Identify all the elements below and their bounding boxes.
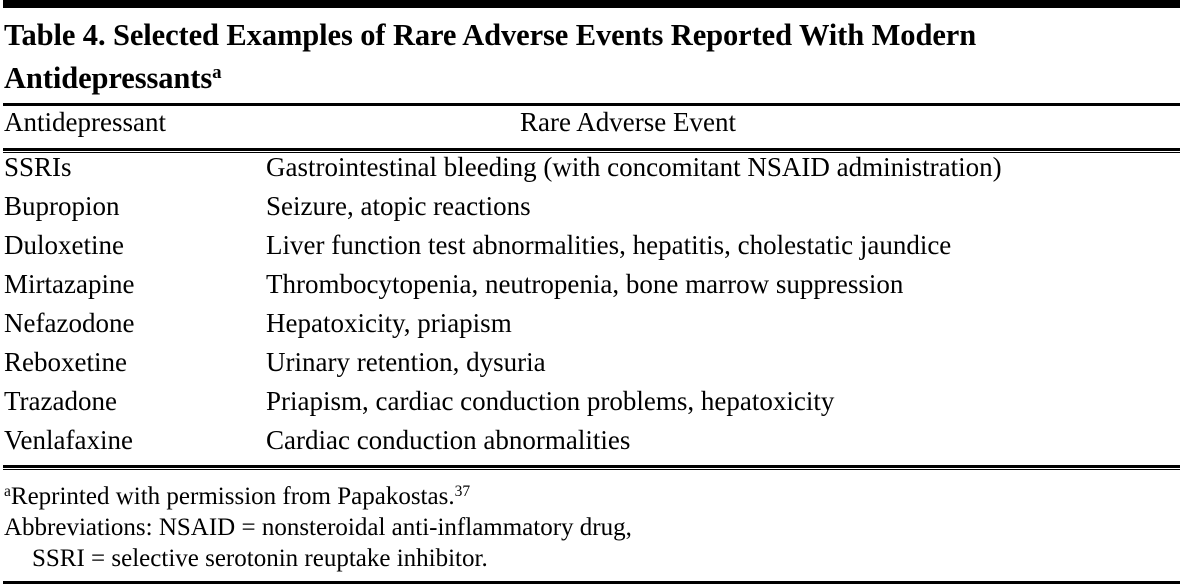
table-header: Antidepressant Rare Adverse Event bbox=[3, 106, 1180, 148]
adverse-events-table-body: SSRIs Gastrointestinal bleeding (with co… bbox=[3, 153, 1180, 465]
cell-rare-adverse-event: Gastrointestinal bleeding (with concomit… bbox=[266, 153, 1180, 192]
cell-rare-adverse-event: Priapism, cardiac conduction problems, h… bbox=[266, 387, 1180, 426]
cell-rare-adverse-event: Cardiac conduction abnormalities bbox=[266, 426, 1180, 465]
cell-antidepressant: Bupropion bbox=[3, 192, 266, 231]
bottom-border-rule bbox=[3, 581, 1180, 584]
cell-antidepressant: Mirtazapine bbox=[3, 270, 266, 309]
cell-antidepressant: Trazadone bbox=[3, 387, 266, 426]
table-figure: Table 4. Selected Examples of Rare Adver… bbox=[0, 0, 1186, 587]
table-title-text: Table 4. Selected Examples of Rare Adver… bbox=[4, 18, 976, 95]
cell-rare-adverse-event: Urinary retention, dysuria bbox=[266, 348, 1180, 387]
cell-rare-adverse-event: Hepatoxicity, priapism bbox=[266, 309, 1180, 348]
table-header-row: Antidepressant Rare Adverse Event bbox=[3, 106, 1180, 148]
cell-rare-adverse-event: Liver function test abnormalities, hepat… bbox=[266, 231, 1180, 270]
table-row: Duloxetine Liver function test abnormali… bbox=[3, 231, 1180, 270]
cell-antidepressant: Nefazodone bbox=[3, 309, 266, 348]
table-row: Reboxetine Urinary retention, dysuria bbox=[3, 348, 1180, 387]
page-title: Table 4. Selected Examples of Rare Adver… bbox=[3, 8, 1169, 103]
table-row: Venlafaxine Cardiac conduction abnormali… bbox=[3, 426, 1180, 465]
footnote-reference-number: 37 bbox=[455, 483, 471, 500]
table-row: Mirtazapine Thrombocytopenia, neutropeni… bbox=[3, 270, 1180, 309]
footnote-source-text: Reprinted with permission from Papakosta… bbox=[11, 483, 455, 510]
top-border-rule bbox=[3, 0, 1180, 8]
table-body: SSRIs Gastrointestinal bleeding (with co… bbox=[3, 153, 1180, 465]
footnotes: aReprinted with permission from Papakost… bbox=[3, 470, 1183, 574]
cell-rare-adverse-event: Seizure, atopic reactions bbox=[266, 192, 1180, 231]
footnote-abbreviations-line-2: SSRI = selective serotonin reuptake inhi… bbox=[4, 543, 1183, 574]
cell-antidepressant: Venlafaxine bbox=[3, 426, 266, 465]
cell-antidepressant: Duloxetine bbox=[3, 231, 266, 270]
footnote-source: aReprinted with permission from Papakost… bbox=[4, 476, 1183, 512]
table-row: Trazadone Priapism, cardiac conduction p… bbox=[3, 387, 1180, 426]
cell-antidepressant: SSRIs bbox=[3, 153, 266, 192]
column-header-antidepressant: Antidepressant bbox=[3, 106, 266, 148]
table-row: SSRIs Gastrointestinal bleeding (with co… bbox=[3, 153, 1180, 192]
footnote-marker-a: a bbox=[4, 483, 11, 500]
footnote-spacer bbox=[3, 574, 1183, 581]
table-row: Nefazodone Hepatoxicity, priapism bbox=[3, 309, 1180, 348]
adverse-events-table: Antidepressant Rare Adverse Event bbox=[3, 106, 1180, 148]
column-header-rare-adverse-event: Rare Adverse Event bbox=[266, 106, 1180, 148]
cell-antidepressant: Reboxetine bbox=[3, 348, 266, 387]
table-row: Bupropion Seizure, atopic reactions bbox=[3, 192, 1180, 231]
cell-rare-adverse-event: Thrombocytopenia, neutropenia, bone marr… bbox=[266, 270, 1180, 309]
footnote-abbreviations-line-1: Abbreviations: NSAID = nonsteroidal anti… bbox=[4, 512, 1183, 543]
title-footnote-marker: a bbox=[212, 62, 221, 83]
